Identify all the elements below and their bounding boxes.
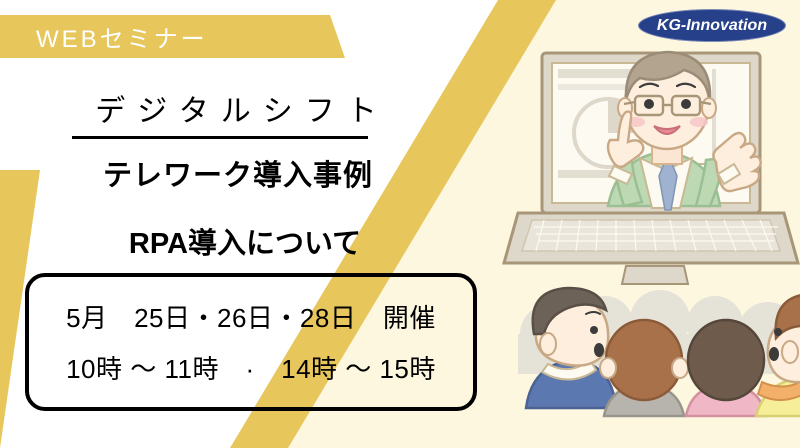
webinar-poster: WEBセミナー KG-Innovation デジタルシフト テレワーク導入事例 … — [0, 0, 800, 448]
audience-member-2 — [600, 320, 688, 416]
ribbon-banner: WEBセミナー — [0, 15, 345, 58]
webinar-illustration — [500, 38, 800, 448]
company-logo-text: KG-Innovation — [657, 17, 767, 35]
schedule-box: 5月 25日・26日・28日 開催 10時 〜 11時 · 14時 〜 15時 — [25, 273, 477, 411]
audience-member-1 — [526, 288, 616, 408]
audience-member-3 — [686, 320, 766, 416]
audience-group — [518, 288, 800, 416]
subtitle-primary: テレワーク導入事例 — [0, 152, 470, 194]
title-block: デジタルシフト テレワーク導入事例 RPA導入について — [0, 86, 470, 262]
ribbon-label: WEBセミナー — [0, 19, 208, 54]
subtitle-secondary: RPA導入について — [0, 220, 470, 262]
schedule-dates: 5月 25日・26日・28日 開催 — [66, 298, 436, 335]
title-divider — [72, 136, 368, 139]
schedule-times: 10時 〜 11時 · 14時 〜 15時 — [66, 349, 436, 386]
page-title: デジタルシフト — [0, 86, 470, 130]
